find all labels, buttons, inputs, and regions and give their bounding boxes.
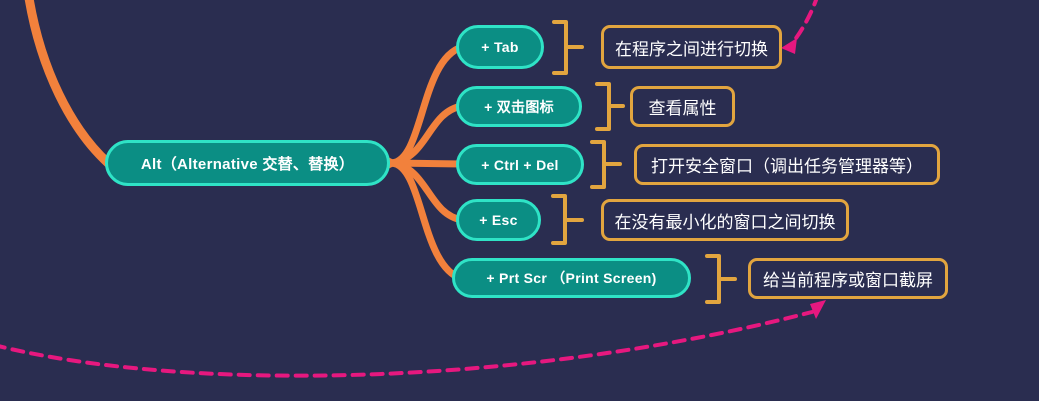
child-node-tab[interactable]: + Tab — [456, 25, 544, 69]
bracket-ctrldel — [592, 142, 620, 187]
callout-esc[interactable]: 在没有最小化的窗口之间切换 — [601, 199, 849, 241]
bracket-esc — [553, 196, 582, 243]
bracket-tab — [554, 22, 582, 73]
callout-label-dbl: 查看属性 — [649, 94, 717, 119]
branch-curve-dbl — [392, 106, 462, 163]
annotation-arrowhead-bottom — [810, 300, 826, 319]
branch-curve-tab — [392, 47, 462, 163]
callout-tab[interactable]: 在程序之间进行切换 — [601, 25, 782, 69]
annotation-arrowhead-top — [781, 38, 797, 54]
child-node-label-esc: + Esc — [479, 212, 517, 228]
callout-prtscr[interactable]: 给当前程序或窗口截屏 — [748, 258, 948, 299]
child-node-dbl[interactable]: + 双击图标 — [456, 86, 582, 127]
child-node-esc[interactable]: + Esc — [456, 199, 541, 241]
bracket-prtscr — [707, 256, 735, 302]
callout-label-esc: 在没有最小化的窗口之间切换 — [615, 208, 836, 233]
bracket-dbl — [597, 84, 623, 129]
branch-curve-prtscr — [392, 163, 462, 279]
child-node-label-dbl: + 双击图标 — [484, 97, 554, 117]
callout-label-prtscr: 给当前程序或窗口截屏 — [763, 266, 933, 291]
callout-ctrldel[interactable]: 打开安全窗口（调出任务管理器等） — [634, 144, 940, 185]
annotation-arrow-top — [790, 0, 818, 46]
callout-label-ctrldel: 打开安全窗口（调出任务管理器等） — [651, 152, 923, 177]
child-node-ctrldel[interactable]: + Ctrl + Del — [456, 144, 584, 185]
annotation-arrow-bottom — [0, 312, 812, 376]
child-node-label-ctrldel: + Ctrl + Del — [481, 157, 559, 173]
mindmap-canvas: Alt（Alternative 交替、替换） + Tab + 双击图标 + Ct… — [0, 0, 1039, 401]
root-node-alt[interactable]: Alt（Alternative 交替、替换） — [105, 140, 390, 186]
callout-label-tab: 在程序之间进行切换 — [615, 35, 768, 60]
branch-curve-ctrldel — [392, 163, 462, 164]
child-node-label-tab: + Tab — [481, 39, 518, 55]
callout-dbl[interactable]: 查看属性 — [630, 86, 735, 127]
trunk-branch-incoming — [28, 0, 108, 163]
child-node-prtscr[interactable]: + Prt Scr （Print Screen) — [452, 258, 691, 298]
child-node-label-prtscr: + Prt Scr （Print Screen) — [486, 268, 656, 288]
branch-curve-esc — [392, 163, 462, 220]
root-node-label: Alt（Alternative 交替、替换） — [141, 153, 354, 174]
